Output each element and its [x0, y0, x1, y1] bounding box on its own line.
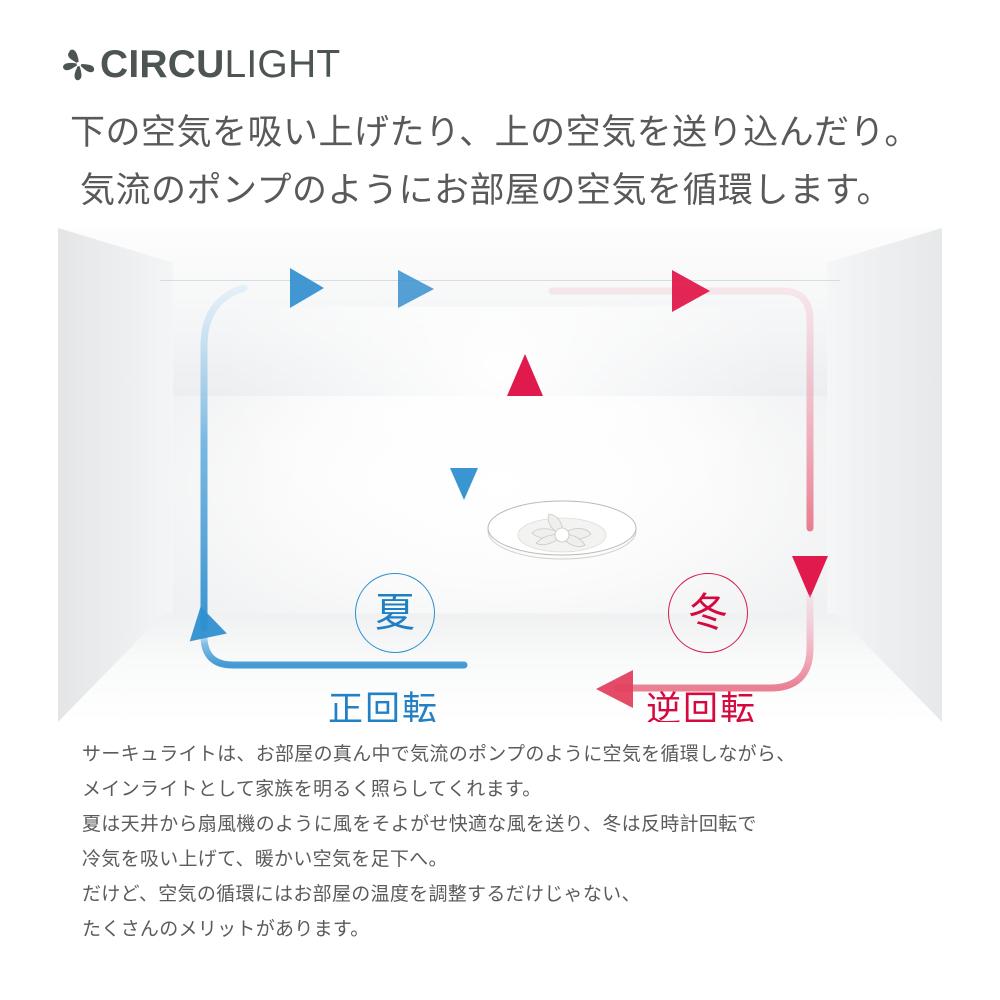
rotation-title-summer: 正回転: [328, 692, 439, 722]
body-copy: サーキュライトは、お部屋の真ん中で気流のポンプのように空気を循環しながら、 メイ…: [82, 737, 952, 947]
fan-propeller-icon: [62, 47, 96, 81]
body-copy-line-5: だけど、空気の循環にはお部屋の温度を調整するだけじゃない、: [82, 877, 952, 912]
brand-wordmark-bold: CIRCU: [100, 43, 225, 86]
airflow-diagram: 夏 冬 正回転 逆回転 ファンの風が お部屋に届く 下の空気を吸い込んで 循環さ…: [58, 228, 942, 722]
body-copy-line-4: 冷気を吸い上げて、暖かい空気を足下へ。: [82, 842, 952, 877]
season-badge-summer: 夏: [355, 573, 435, 653]
brand-wordmark-light: LIGHT: [225, 43, 341, 86]
body-copy-line-6: たくさんのメリットがあります。: [82, 912, 952, 947]
season-badge-winter: 冬: [668, 573, 748, 653]
season-badge-summer-label: 夏: [375, 593, 415, 633]
headline-line-2: 気流のポンプのようにお部屋の空気を循環します。: [70, 162, 950, 220]
airflow-arrows: [58, 228, 942, 722]
headline-line-1: 下の空気を吸い上げたり、上の空気を送り込んだり。: [70, 104, 950, 162]
body-copy-line-2: メインライトとして家族を明るく照らしてくれます。: [82, 772, 952, 807]
page-headline: 下の空気を吸い上げたり、上の空気を送り込んだり。 気流のポンプのようにお部屋の空…: [70, 104, 950, 220]
body-copy-line-1: サーキュライトは、お部屋の真ん中で気流のポンプのように空気を循環しながら、: [82, 737, 952, 772]
rotation-title-winter: 逆回転: [646, 692, 757, 722]
brand-wordmark: CIRCULIGHT: [100, 45, 340, 84]
body-copy-line-3: 夏は天井から扇風機のように風をそよがせ快適な風を送り、冬は反時計回転で: [82, 807, 952, 842]
brand-logo: CIRCULIGHT: [62, 38, 340, 90]
ceiling-fan-light-icon: [486, 497, 638, 567]
season-badge-winter-label: 冬: [688, 593, 728, 633]
